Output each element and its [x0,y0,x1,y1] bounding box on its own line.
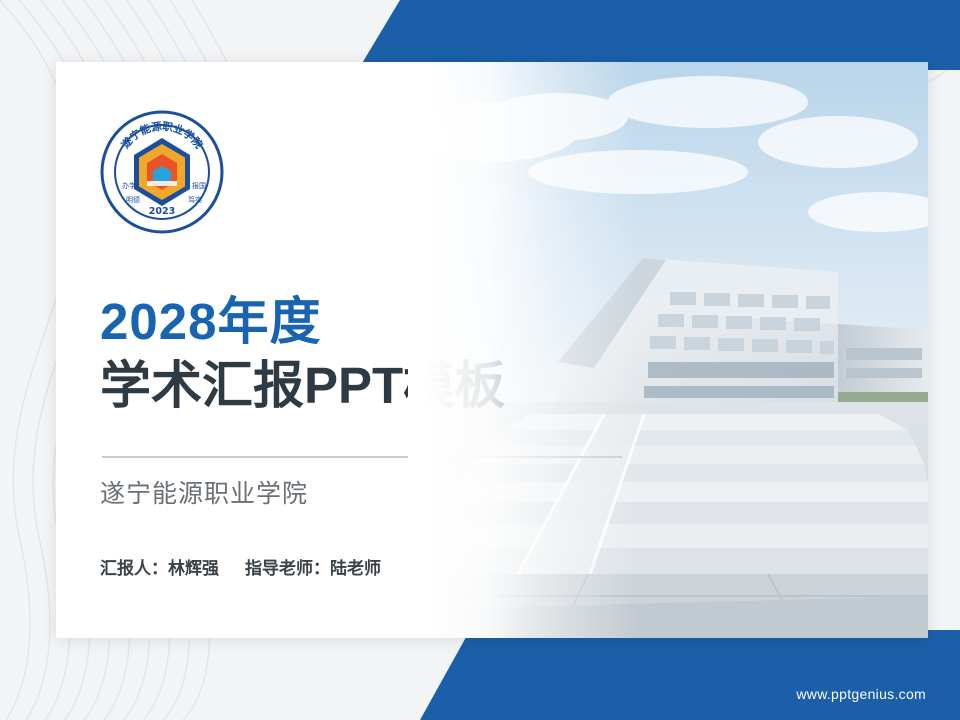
svg-text:报国: 报国 [192,181,206,190]
bottom-blue-band [0,630,960,720]
presenter-label: 汇报人： [100,559,168,578]
advisor-label: 指导老师： [245,559,330,578]
svg-text:笃实: 笃实 [188,195,202,204]
svg-text:办学: 办学 [122,181,136,190]
presentation-slide: 遂宁能源职业学院 2023 明德 笃实 办学 报国 2028年度 学术汇报PPT… [0,0,960,720]
year-title: 2028年度 [100,294,321,350]
website-url: www.pptgenius.com [796,686,926,702]
campus-building-photo [408,62,928,638]
school-name: 遂宁能源职业学院 [100,474,308,510]
slide-card: 遂宁能源职业学院 2023 明德 笃实 办学 报国 2028年度 学术汇报PPT… [56,62,928,638]
presenter-name: 林辉强 [168,559,219,578]
svg-text:明德: 明德 [126,195,140,204]
top-blue-band [340,0,960,70]
credits-line: 汇报人：林辉强指导老师：陆老师 [100,554,381,579]
svg-text:2023: 2023 [149,206,175,217]
photo-fade-overlay [408,62,638,638]
college-logo: 遂宁能源职业学院 2023 明德 笃实 办学 报国 [100,110,224,234]
advisor-name: 陆老师 [330,559,381,578]
